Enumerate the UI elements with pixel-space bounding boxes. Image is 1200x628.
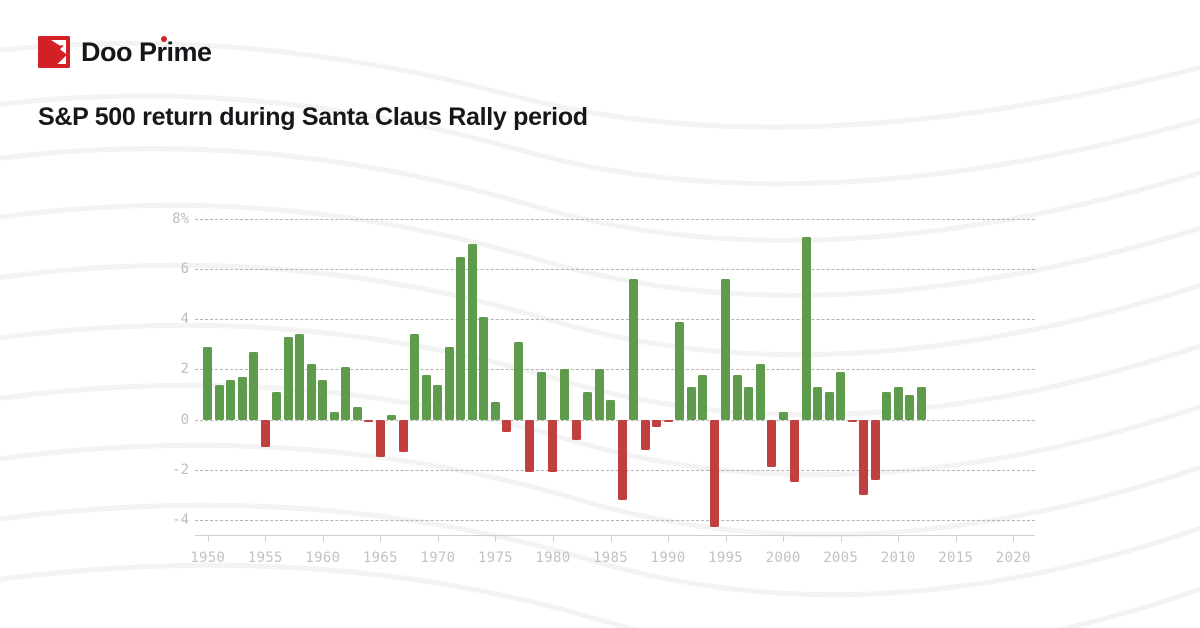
x-axis-tick <box>208 535 209 542</box>
bar-1956 <box>272 392 281 420</box>
x-axis-tick <box>323 535 324 542</box>
bar-1978 <box>525 420 534 473</box>
infographic-page: Doo Prime S&P 500 return during Santa Cl… <box>0 0 1200 628</box>
bar-1966 <box>387 415 396 420</box>
bar-1976 <box>502 420 511 433</box>
bar-1965 <box>376 420 385 458</box>
bar-1961 <box>330 412 339 420</box>
x-axis-tick <box>898 535 899 542</box>
bar-1985 <box>606 400 615 420</box>
bar-2000 <box>779 412 788 420</box>
x-axis-tick-label: 1995 <box>708 550 743 566</box>
bar-2002 <box>802 237 811 420</box>
bar-2008 <box>871 420 880 480</box>
bar-1973 <box>468 244 477 420</box>
bar-1997 <box>744 387 753 420</box>
bar-1995 <box>721 279 730 419</box>
bar-1958 <box>295 334 304 419</box>
bar-2003 <box>813 387 822 420</box>
bar-1981 <box>560 369 569 419</box>
x-axis-tick-label: 2010 <box>881 550 916 566</box>
bar-2010 <box>894 387 903 420</box>
bar-1999 <box>767 420 776 468</box>
y-axis-tick-label: 6 <box>181 261 189 277</box>
bar-1975 <box>491 402 500 420</box>
bar-2001 <box>790 420 799 483</box>
bar-1990 <box>664 420 673 423</box>
x-axis-tick <box>380 535 381 542</box>
bar-1991 <box>675 322 684 420</box>
bar-1952 <box>226 380 235 420</box>
bar-1989 <box>652 420 661 428</box>
bar-1972 <box>456 257 465 420</box>
brand-accent-dot-icon <box>161 36 167 42</box>
x-axis-tick <box>438 535 439 542</box>
bar-2005 <box>836 372 845 420</box>
chart-title: S&P 500 return during Santa Claus Rally … <box>38 103 588 132</box>
bar-1977 <box>514 342 523 420</box>
bar-1955 <box>261 420 270 448</box>
doo-prime-flag-logo-icon <box>38 36 70 68</box>
y-axis-labels: 8%6420-2-4 <box>145 209 189 535</box>
x-axis-line <box>195 535 1035 536</box>
brand-logo: Doo Prime <box>38 36 212 68</box>
bar-1993 <box>698 375 707 420</box>
bar-2009 <box>882 392 891 420</box>
x-axis-tick <box>783 535 784 542</box>
bar-1984 <box>595 369 604 419</box>
bar-1964 <box>364 420 373 423</box>
bar-2011 <box>905 395 914 420</box>
bar-1954 <box>249 352 258 420</box>
x-axis-tick-label: 1975 <box>478 550 513 566</box>
y-axis-tick-label: -2 <box>172 462 189 478</box>
x-axis-tick-label: 2000 <box>766 550 801 566</box>
brand-name: Doo Prime <box>81 37 212 68</box>
bar-2012 <box>917 387 926 420</box>
bar-1960 <box>318 380 327 420</box>
bar-1982 <box>572 420 581 440</box>
x-axis-tick <box>611 535 612 542</box>
bar-1998 <box>756 364 765 419</box>
bar-1971 <box>445 347 454 420</box>
y-axis-tick-label: 0 <box>181 412 189 428</box>
x-axis-tick <box>668 535 669 542</box>
bar-1957 <box>284 337 293 420</box>
bar-chart: 8%6420-2-4 19501955196019651970197519801… <box>195 209 1035 535</box>
brand-name-text: Doo Prime <box>81 37 212 67</box>
x-axis-tick <box>495 535 496 542</box>
x-axis-tick <box>553 535 554 542</box>
bar-2006 <box>848 420 857 423</box>
x-axis-tick-label: 1955 <box>248 550 283 566</box>
bar-1969 <box>422 375 431 420</box>
y-axis-tick-label: -4 <box>172 512 189 528</box>
bar-1996 <box>733 375 742 420</box>
bar-1950 <box>203 347 212 420</box>
bar-1951 <box>215 385 224 420</box>
y-axis-tick-label: 8% <box>172 211 189 227</box>
x-axis-tick-label: 1980 <box>536 550 571 566</box>
y-axis-tick-label: 2 <box>181 361 189 377</box>
x-axis-tick <box>1013 535 1014 542</box>
x-axis-tick-label: 1960 <box>305 550 340 566</box>
bar-1980 <box>548 420 557 473</box>
bar-1988 <box>641 420 650 450</box>
x-axis-tick-label: 1990 <box>651 550 686 566</box>
x-axis-tick-label: 1970 <box>420 550 455 566</box>
bar-1974 <box>479 317 488 420</box>
x-axis-tick-label: 2015 <box>938 550 973 566</box>
y-axis-tick-label: 4 <box>181 311 189 327</box>
bar-1963 <box>353 407 362 420</box>
bar-1959 <box>307 364 316 419</box>
x-axis-tick-label: 1950 <box>190 550 225 566</box>
x-axis-tick-label: 1985 <box>593 550 628 566</box>
bar-1962 <box>341 367 350 420</box>
bar-2007 <box>859 420 868 495</box>
bar-1987 <box>629 279 638 419</box>
x-axis-tick-label: 1965 <box>363 550 398 566</box>
x-axis-tick-label: 2020 <box>996 550 1031 566</box>
bar-1968 <box>410 334 419 419</box>
bar-series <box>195 209 1035 535</box>
bar-1994 <box>710 420 719 528</box>
bar-1970 <box>433 385 442 420</box>
x-axis-tick <box>265 535 266 542</box>
bar-1983 <box>583 392 592 420</box>
x-axis-tick-label: 2005 <box>823 550 858 566</box>
bar-1979 <box>537 372 546 420</box>
bar-2004 <box>825 392 834 420</box>
bar-1986 <box>618 420 627 500</box>
x-axis-tick <box>841 535 842 542</box>
x-axis-tick <box>956 535 957 542</box>
bar-1967 <box>399 420 408 453</box>
bar-1953 <box>238 377 247 420</box>
bar-1992 <box>687 387 696 420</box>
x-axis-tick <box>726 535 727 542</box>
